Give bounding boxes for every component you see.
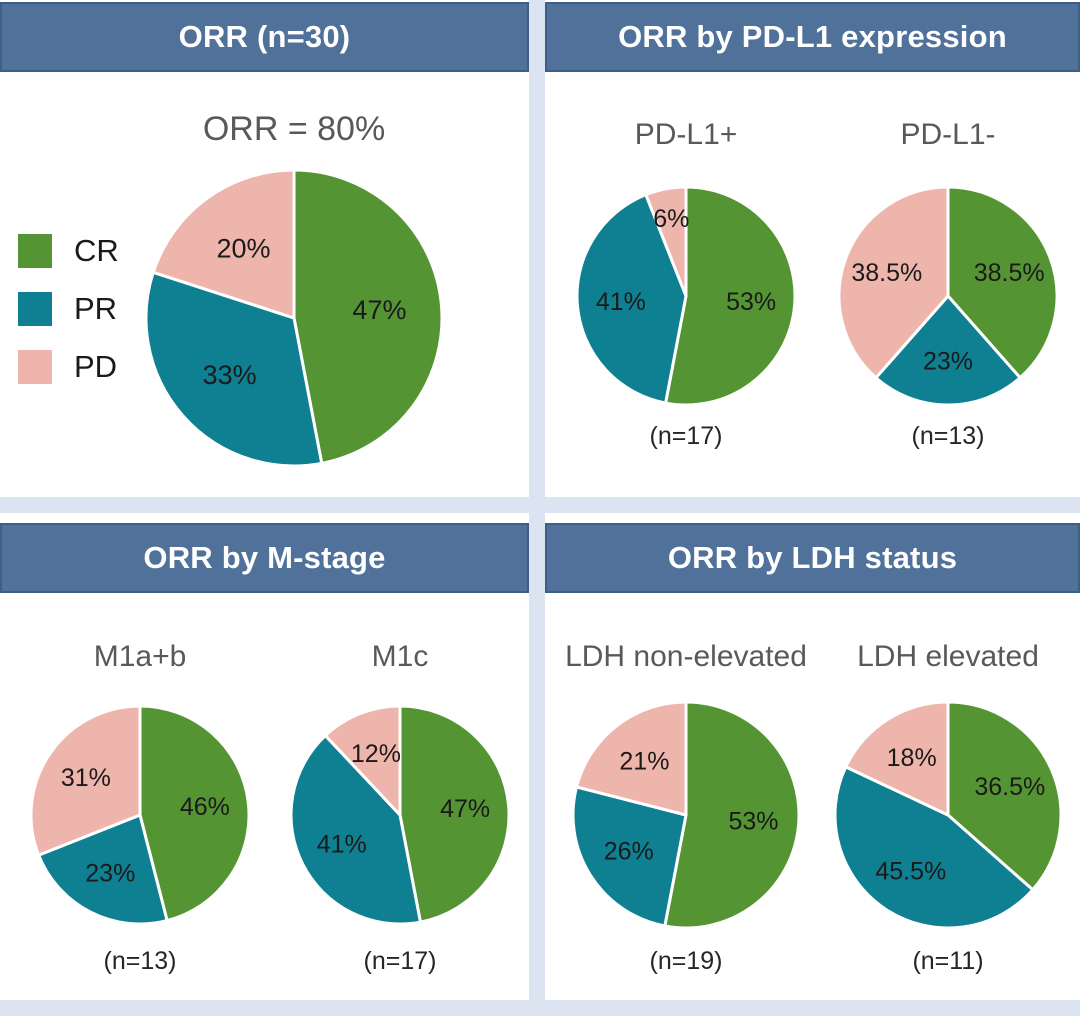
pie-title-pdl1-neg: PD-L1- xyxy=(900,118,995,152)
legend: CR PR PD xyxy=(18,222,119,396)
pie-subtitle-ldh-non-elevated: (n=19) xyxy=(650,947,723,976)
pie-title-m1c: M1c xyxy=(372,640,429,674)
panel-title-orr-mstage: ORR by M-stage xyxy=(143,540,385,576)
pie-subtitle-m1c: (n=17) xyxy=(364,947,437,976)
pie-subtitle-m1ab: (n=13) xyxy=(104,947,177,976)
legend-item-pr: PR xyxy=(18,280,119,338)
panel-header-orr-pdl1: ORR by PD-L1 expression xyxy=(545,2,1080,72)
pie-subtitle-pdl1-pos: (n=17) xyxy=(650,422,723,451)
bottom-gap-strip xyxy=(0,1000,1080,1016)
panel-title-orr-pdl1: ORR by PD-L1 expression xyxy=(618,19,1007,55)
legend-swatch-pr xyxy=(18,292,52,326)
legend-label-cr: CR xyxy=(74,233,119,269)
panel-title-orr-overall: ORR (n=30) xyxy=(179,19,351,55)
pie-title-ldh-non-elevated: LDH non-elevated xyxy=(565,640,807,674)
pie-title-pdl1-pos: PD-L1+ xyxy=(635,118,738,152)
panel-body-orr-mstage xyxy=(0,609,529,1000)
panel-orr-ldh: ORR by LDH status xyxy=(545,513,1080,1000)
legend-item-pd: PD xyxy=(18,338,119,396)
legend-label-pd: PD xyxy=(74,349,117,385)
pie-title-m1ab: M1a+b xyxy=(94,640,187,674)
panel-header-orr-overall: ORR (n=30) xyxy=(0,2,529,72)
pie-title-ldh-elevated: LDH elevated xyxy=(857,640,1039,674)
figure-root: ORR (n=30) ORR by PD-L1 expression ORR b… xyxy=(0,0,1080,1016)
legend-label-pr: PR xyxy=(74,291,117,327)
panel-orr-mstage: ORR by M-stage xyxy=(0,513,529,1000)
panel-title-orr-ldh: ORR by LDH status xyxy=(668,540,957,576)
pie-subtitle-ldh-elevated: (n=11) xyxy=(912,947,983,976)
legend-swatch-pd xyxy=(18,350,52,384)
pie-subtitle-pdl1-neg: (n=13) xyxy=(912,422,985,451)
panel-header-orr-ldh: ORR by LDH status xyxy=(545,523,1080,593)
pie-title-orr-overall: ORR = 80% xyxy=(203,110,385,149)
legend-item-cr: CR xyxy=(18,222,119,280)
panel-orr-pdl1: ORR by PD-L1 expression xyxy=(545,0,1080,497)
panel-body-orr-pdl1 xyxy=(545,88,1080,497)
legend-swatch-cr xyxy=(18,234,52,268)
panel-header-orr-mstage: ORR by M-stage xyxy=(0,523,529,593)
